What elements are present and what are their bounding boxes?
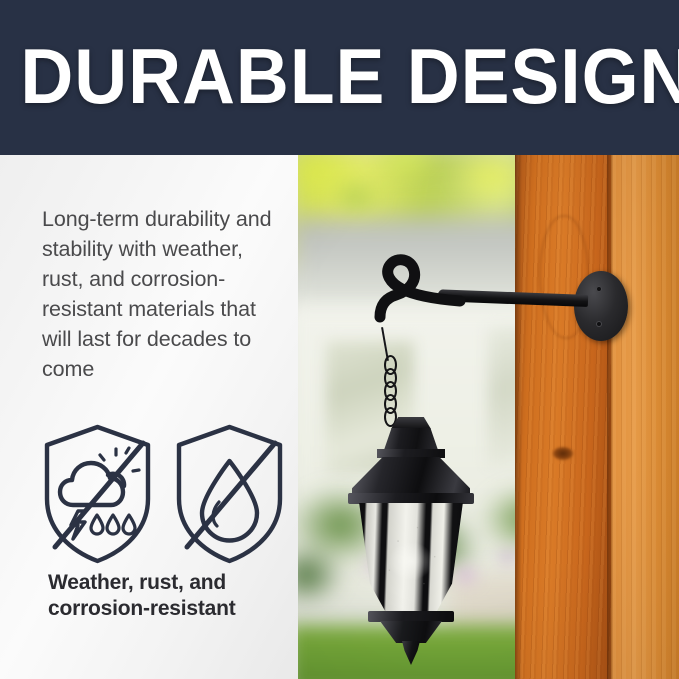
lantern-roof-lip <box>348 493 474 504</box>
feature-icon-row <box>40 423 288 568</box>
left-info-panel: Long-term durability and stability with … <box>0 155 298 679</box>
lantern-finial <box>402 641 420 665</box>
lantern-roof <box>352 457 470 497</box>
lantern-collar <box>377 449 445 458</box>
product-infographic: DURABLE DESIGN Long-term durability and … <box>0 0 679 679</box>
wood-post-edge <box>515 155 522 679</box>
wood-post-seam <box>607 155 613 679</box>
wood-post <box>515 155 679 679</box>
wood-post-face-front <box>515 155 611 679</box>
wood-post-face-side <box>611 155 679 679</box>
water-resistant-shield-icon <box>172 423 287 565</box>
hanging-lantern <box>344 417 478 667</box>
page-title: DURABLE DESIGN <box>20 34 658 118</box>
feature-icon-caption: Weather, rust, and corrosion-resistant <box>48 570 294 622</box>
wood-knot <box>553 447 573 460</box>
lantern-cap <box>391 417 431 429</box>
mount-screw-bottom <box>596 321 602 327</box>
hanging-chain <box>384 355 388 425</box>
body-description-text: Long-term durability and stability with … <box>42 204 286 384</box>
lantern-glass-panels <box>357 503 465 615</box>
lantern-base <box>380 621 442 643</box>
product-photo <box>298 155 679 679</box>
mount-screw-top <box>596 286 602 292</box>
lantern-base-lip <box>368 611 454 622</box>
header-band: DURABLE DESIGN <box>0 0 679 155</box>
lantern-neck <box>384 428 438 450</box>
weather-resistant-shield-icon <box>40 423 155 565</box>
